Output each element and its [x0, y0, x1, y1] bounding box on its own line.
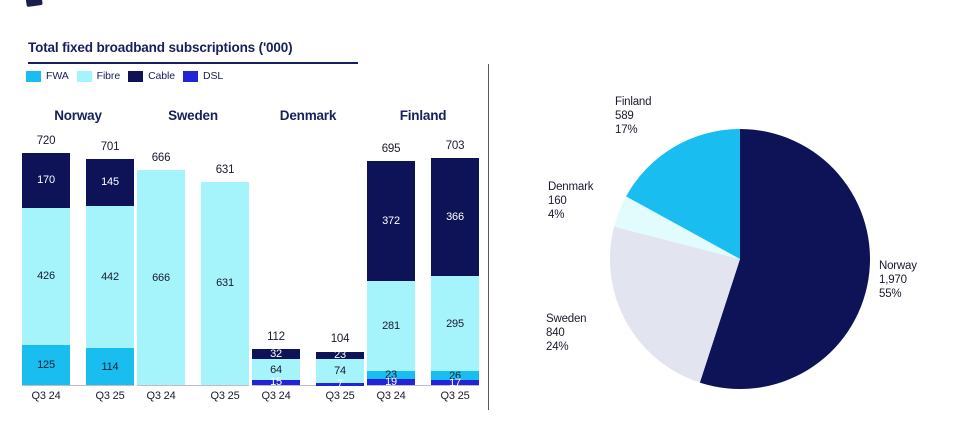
country-label-finland: Finland: [367, 108, 479, 123]
panel-divider: [488, 64, 489, 410]
bar-segment-dsl[interactable]: 7: [316, 383, 364, 386]
bar-segment-value: 114: [102, 361, 119, 373]
pie-label-share: 17%: [615, 123, 651, 137]
bar-segment-value: 281: [382, 320, 400, 332]
pie-label-value: 840: [546, 326, 586, 340]
bar-segment-fwa[interactable]: 125: [22, 345, 70, 385]
bar-segment-dsl[interactable]: 15: [252, 380, 300, 385]
bar-group-denmark: Denmark326415112Q3 2423747104Q3 25: [252, 0, 364, 432]
x-tick-label: Q3 24: [367, 390, 415, 402]
bar-segment-value: 366: [446, 211, 464, 223]
pie-label-sweden: Sweden84024%: [546, 312, 586, 354]
bar-chart-panel: Total fixed broadband subscriptions ('00…: [0, 0, 488, 432]
bar-sweden-q324[interactable]: 666: [137, 170, 185, 385]
bar-segment-cable[interactable]: 170: [22, 153, 70, 208]
x-tick-label: Q3 24: [137, 390, 185, 402]
bar-norway-q325[interactable]: 145442114: [86, 159, 134, 385]
bar-total-label: 631: [201, 164, 249, 176]
bar-segment-value: 372: [382, 215, 400, 227]
bar-total-label: 720: [22, 135, 70, 147]
bar-segment-value: 23: [334, 349, 346, 361]
x-tick-label: Q3 24: [252, 390, 300, 402]
bar-total-label: 112: [252, 331, 300, 343]
bar-segment-fibre[interactable]: 666: [137, 170, 185, 385]
pie-label-share: 4%: [548, 208, 593, 222]
bar-segment-cable[interactable]: 23: [316, 352, 364, 359]
x-tick-label: Q3 25: [431, 390, 479, 402]
bar-chart-plot-area: Norway170426125720Q3 24145442114701Q3 25…: [0, 0, 488, 432]
bar-segment-value: 295: [446, 318, 464, 330]
bar-group-sweden: Sweden666666Q3 24631631Q3 25: [137, 0, 249, 432]
x-tick-label: Q3 25: [86, 390, 134, 402]
bar-total-label: 104: [316, 333, 364, 345]
bar-denmark-q325[interactable]: 23747: [316, 352, 364, 386]
bar-segment-value: 15: [270, 376, 282, 388]
x-tick-label: Q3 25: [201, 390, 249, 402]
bar-segment-dsl[interactable]: 19: [367, 379, 415, 385]
bar-segment-value: 145: [101, 176, 119, 188]
bar-group-norway: Norway170426125720Q3 24145442114701Q3 25: [22, 0, 134, 432]
pie-label-finland: Finland58917%: [615, 95, 651, 137]
country-label-denmark: Denmark: [252, 108, 364, 123]
bar-total-label: 703: [431, 140, 479, 152]
bar-segment-value: 442: [101, 271, 119, 283]
bar-norway-q324[interactable]: 170426125: [22, 153, 70, 385]
pie-label-denmark: Denmark1604%: [548, 180, 593, 222]
bar-segment-value: 631: [216, 277, 234, 289]
pie-label-value: 1,970: [879, 273, 917, 287]
pie-chart-plot-area: Norway1,97055%Sweden84024%Denmark1604%Fi…: [488, 0, 960, 432]
pie-label-share: 24%: [546, 340, 586, 354]
pie-label-share: 55%: [879, 287, 917, 301]
pie-label-value: 160: [548, 194, 593, 208]
bar-segment-cable[interactable]: 145: [86, 159, 134, 206]
bar-total-label: 701: [86, 141, 134, 153]
pie-label-value: 589: [615, 109, 651, 123]
bar-segment-fibre[interactable]: 631: [201, 182, 249, 385]
bar-segment-value: 426: [37, 270, 55, 282]
pie-label-name: Sweden: [546, 312, 586, 326]
country-label-norway: Norway: [22, 108, 134, 123]
pie-label-norway: Norway1,97055%: [879, 259, 917, 301]
bar-segment-dsl[interactable]: 17: [431, 380, 479, 385]
bar-segment-fibre[interactable]: 281: [367, 281, 415, 372]
country-label-sweden: Sweden: [137, 108, 249, 123]
bar-segment-value: 74: [334, 365, 346, 377]
bar-segment-cable[interactable]: 366: [431, 158, 479, 276]
bar-segment-value: 125: [37, 359, 55, 371]
pie-label-name: Finland: [615, 95, 651, 109]
bar-segment-cable[interactable]: 372: [367, 161, 415, 281]
bar-segment-value: 19: [385, 376, 397, 388]
bar-total-label: 666: [137, 152, 185, 164]
bar-segment-value: 17: [449, 377, 461, 389]
bar-segment-fibre[interactable]: 295: [431, 276, 479, 371]
bar-total-label: 695: [367, 143, 415, 155]
bar-segment-value: 170: [37, 174, 55, 186]
pie-label-name: Norway: [879, 259, 917, 273]
axis-line: [137, 385, 249, 386]
bar-segment-value: 32: [270, 348, 282, 360]
bar-segment-value: 7: [337, 378, 343, 390]
bar-segment-fwa[interactable]: 114: [86, 348, 134, 385]
bar-finland-q324[interactable]: 3722812319: [367, 161, 415, 385]
bar-segment-fibre[interactable]: 426: [22, 208, 70, 345]
bar-segment-fibre[interactable]: 442: [86, 206, 134, 348]
bar-segment-value: 666: [152, 272, 170, 284]
bar-group-finland: Finland3722812319695Q3 243662952617703Q3…: [367, 0, 479, 432]
x-tick-label: Q3 25: [316, 390, 364, 402]
bar-finland-q325[interactable]: 3662952617: [431, 158, 479, 385]
bar-denmark-q324[interactable]: 326415: [252, 349, 300, 385]
bar-segment-value: 64: [270, 364, 282, 376]
bar-segment-cable[interactable]: 32: [252, 349, 300, 359]
bar-sweden-q325[interactable]: 631: [201, 182, 249, 385]
x-tick-label: Q3 24: [22, 390, 70, 402]
pie-label-name: Denmark: [548, 180, 593, 194]
pie-chart-panel: Nordic fixed service revenues, NOK mn an…: [488, 0, 960, 432]
